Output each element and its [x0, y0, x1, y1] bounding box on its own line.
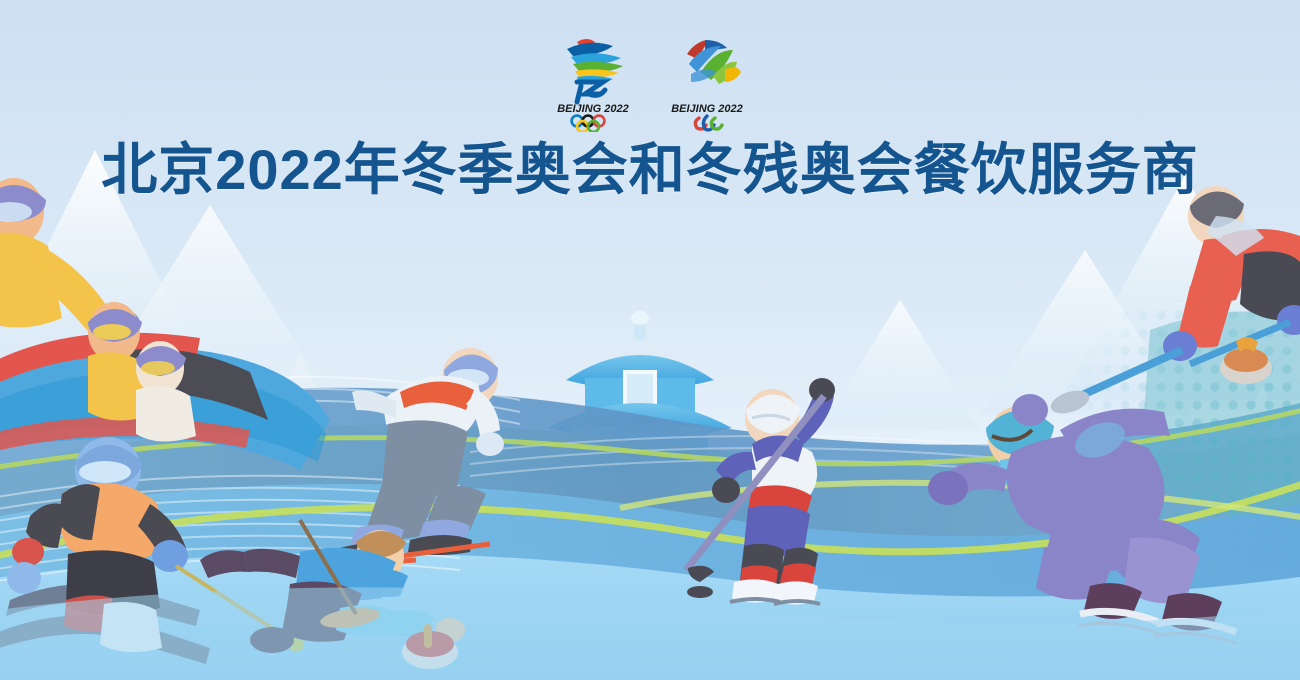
title-block: BEIJING 2022	[0, 0, 1300, 198]
page-title: 北京2022年冬季奥会和冬残奥会餐饮服务商	[0, 142, 1300, 198]
winter-dream-ribbon-icon	[567, 39, 623, 102]
beijing-2022-banner: BEIJING 2022	[0, 0, 1300, 680]
flying-high-ribbon-icon	[687, 40, 741, 84]
paralympic-wordmark: BEIJING 2022	[671, 103, 743, 115]
logo-row: BEIJING 2022	[0, 0, 1300, 132]
beijing-2022-olympic-logo: BEIJING 2022	[547, 32, 639, 132]
olympic-rings-icon	[572, 116, 605, 132]
agitos-icon	[695, 116, 722, 130]
olympic-wordmark: BEIJING 2022	[557, 103, 629, 115]
beijing-2022-paralympic-logo: BEIJING 2022	[661, 32, 753, 132]
